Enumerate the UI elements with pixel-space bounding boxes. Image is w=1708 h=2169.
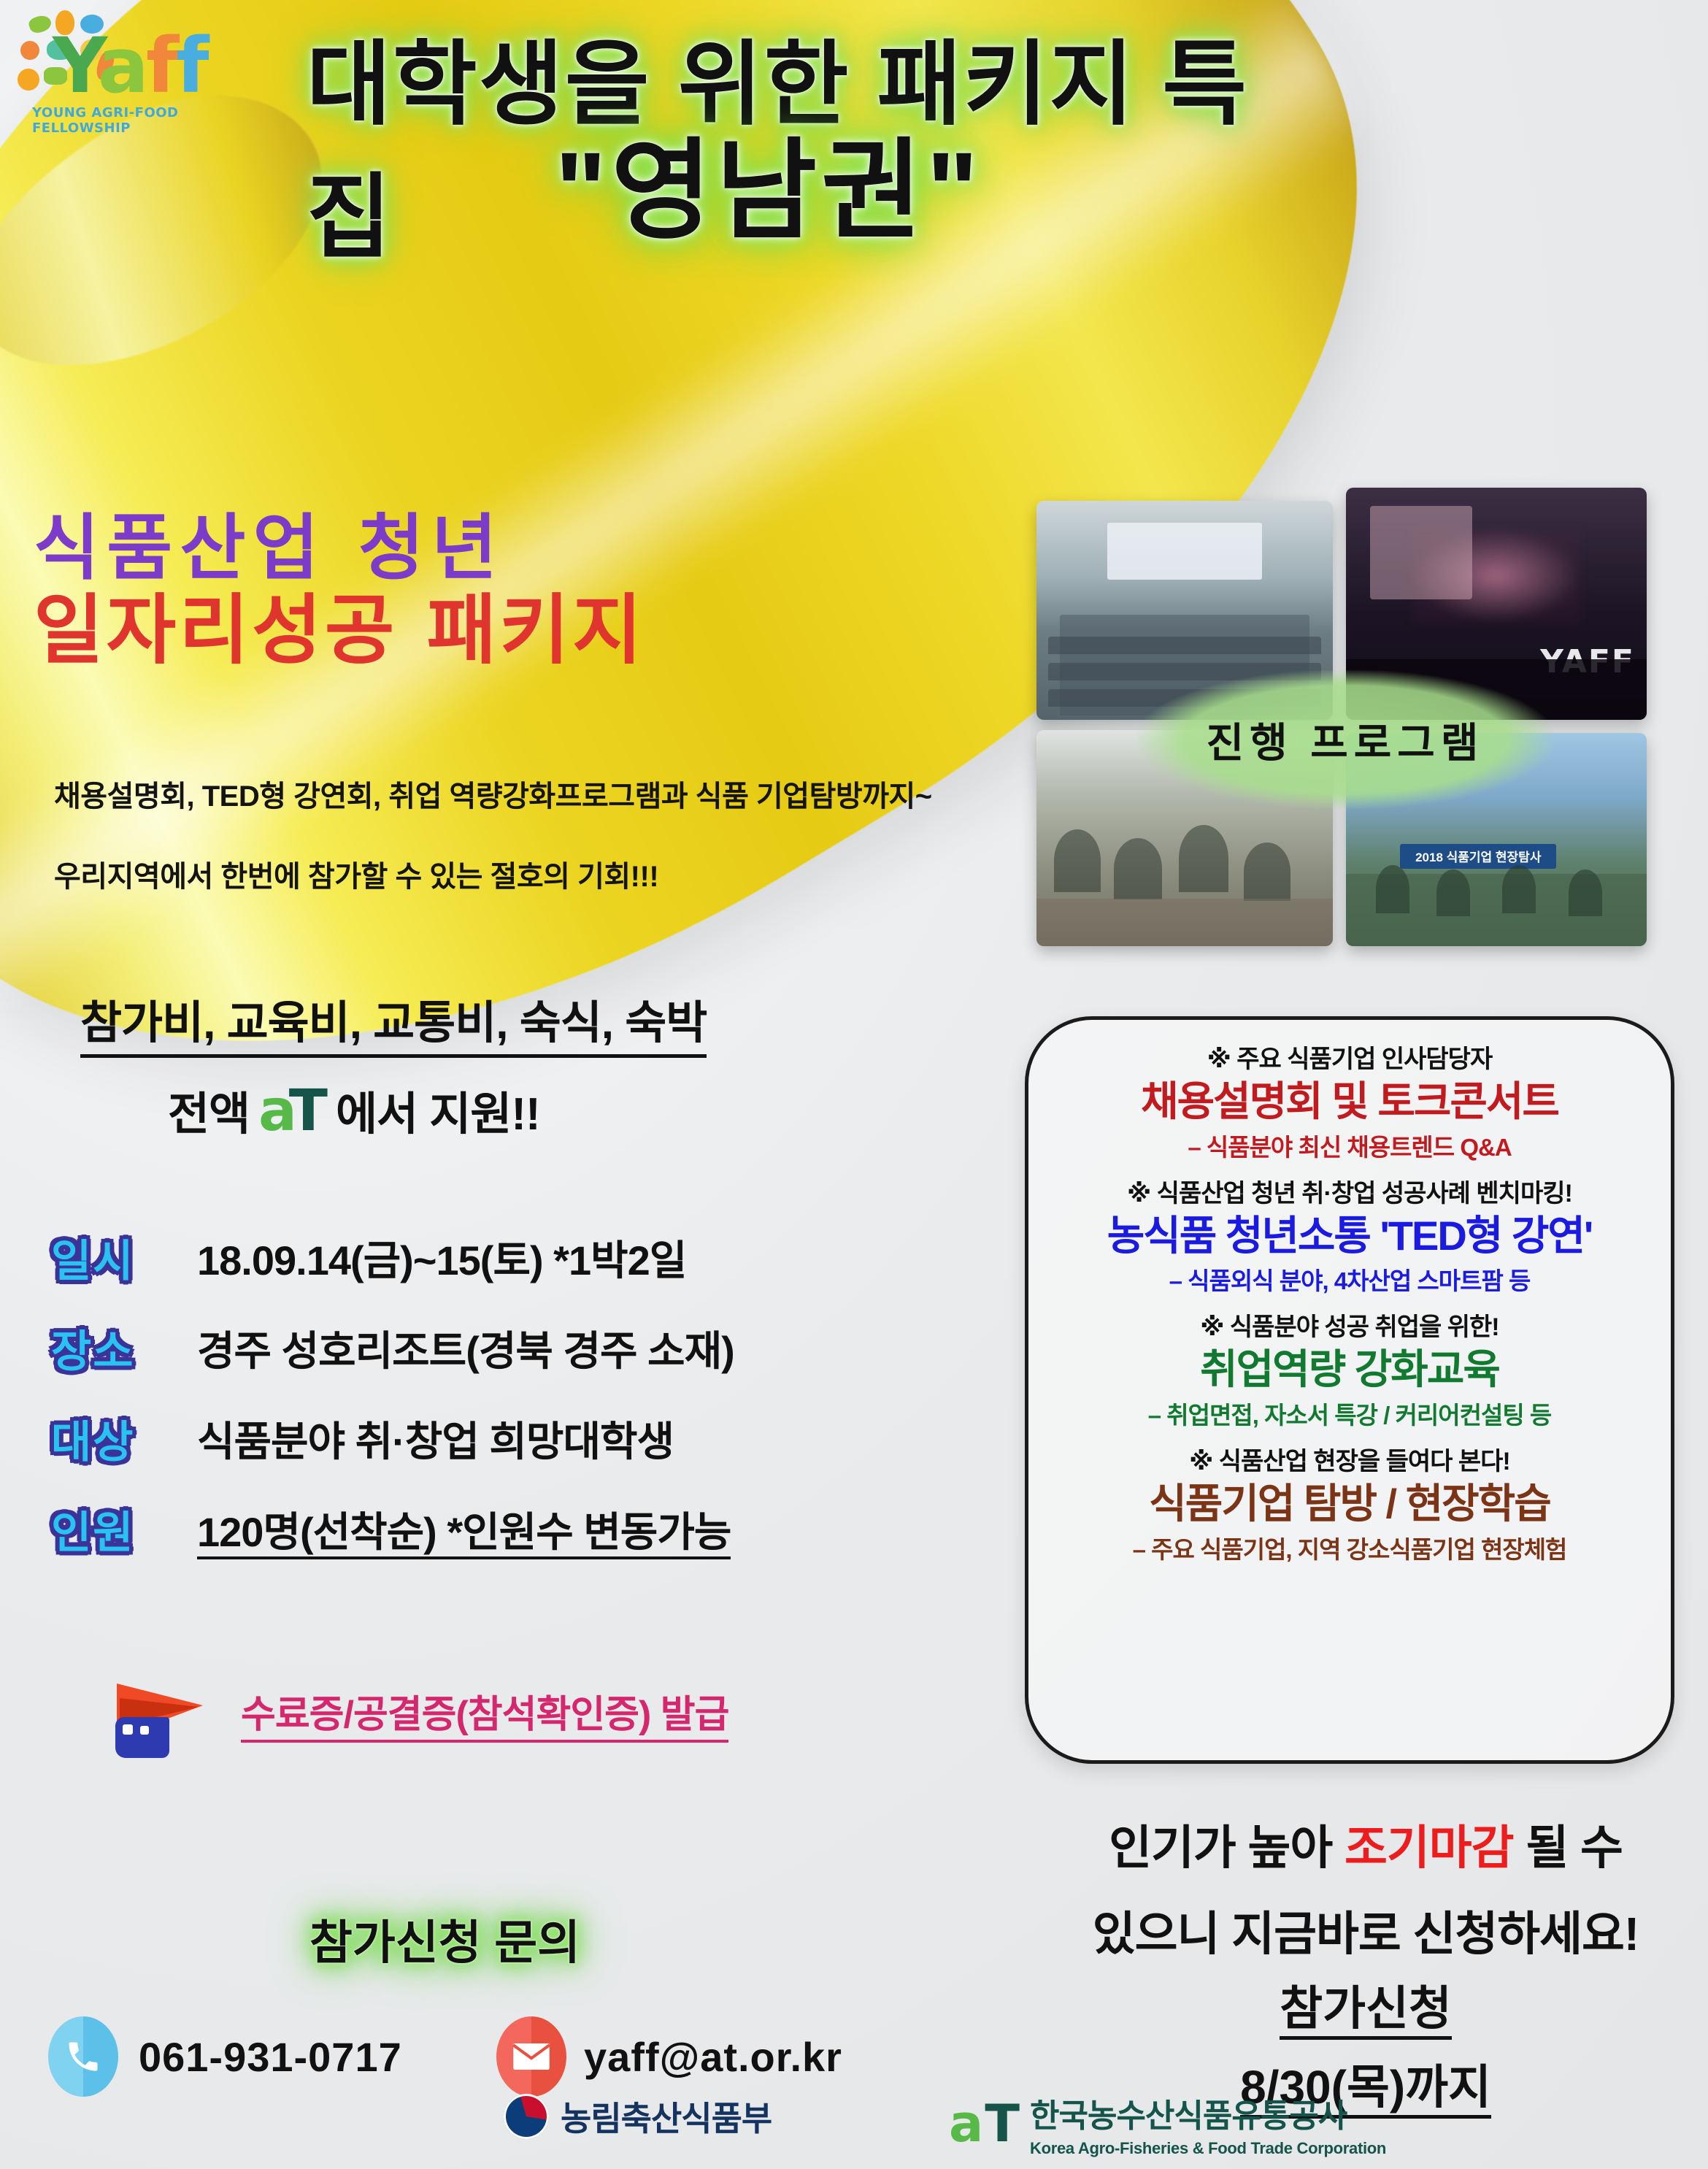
brand-heading: 식품산업 청년 일자리성공 패키지 bbox=[34, 511, 873, 670]
footer-at-letter-t: T bbox=[985, 2103, 1020, 2144]
info-label-place: 장소 bbox=[51, 1316, 197, 1380]
phone-number: 061-931-0717 bbox=[139, 2033, 402, 2081]
vegetable-icon-4 bbox=[20, 41, 39, 60]
program-sub-1: – 식품분야 최신 채용트렌드 Q&A bbox=[1047, 1128, 1652, 1163]
email-address: yaff@at.or.kr bbox=[584, 2033, 842, 2081]
footer-at-korean: 한국농수산식품유통공사 bbox=[1030, 2089, 1386, 2136]
logo-tagline: YOUNG AGRI-FOOD FELLOWSHIP bbox=[32, 105, 229, 136]
intro-text: 채용설명회, TED형 강연회, 취업 역량강화프로그램과 식품 기업탐방까지~… bbox=[54, 772, 966, 933]
mail-icon bbox=[496, 2016, 566, 2097]
contact-email[interactable]: yaff@at.or.kr bbox=[496, 2016, 842, 2097]
info-value-date: 18.09.14(금)~15(토) *1박2일 bbox=[197, 1228, 686, 1287]
contact-title: 참가신청 문의 bbox=[309, 1905, 580, 1973]
program-item-4: ※ 식품산업 현장을 들여다 본다! 식품기업 탐방 / 현장학습 – 주요 식… bbox=[1047, 1441, 1652, 1565]
urgency-line-2: 있으니 지금바로 신청하세요! bbox=[1026, 1897, 1705, 1964]
page-title-line2: "영남권" bbox=[555, 102, 982, 261]
vegetable-icon-7 bbox=[18, 69, 39, 91]
contact-phone[interactable]: 061-931-0717 bbox=[48, 2016, 402, 2097]
certificate-note: 수료증/공결증(참석확인증) 발급 bbox=[241, 1684, 728, 1743]
footer-at-english: Korea Agro-Fisheries & Food Trade Corpor… bbox=[1030, 2139, 1386, 2158]
program-item-3: ※ 식품분야 성공 취업을 위한! 취업역량 강화교육 – 취업면접, 자소서 … bbox=[1047, 1307, 1652, 1431]
urgency-highlight: 조기마감 bbox=[1345, 1821, 1514, 1874]
program-cloud-text: 진행 프로그램 bbox=[1207, 710, 1485, 769]
program-note-1: ※ 주요 식품기업 인사담당자 bbox=[1047, 1039, 1652, 1075]
vegetable-icon-1 bbox=[27, 13, 53, 36]
support-prefix: 전액 bbox=[168, 1077, 250, 1143]
program-main-4: 식품기업 탐방 / 현장학습 bbox=[1047, 1481, 1652, 1527]
footer-at-logo: aT 한국농수산식품유통공사 Korea Agro-Fisheries & Fo… bbox=[949, 2089, 1386, 2158]
poster-root: Yaff YOUNG AGRI-FOOD FELLOWSHIP 대학생을 위한 … bbox=[0, 0, 1708, 2169]
urgency-block: 인기가 높아 조기마감 될 수 있으니 지금바로 신청하세요! 참가신청 8/3… bbox=[1026, 1811, 1705, 2117]
logo-letter-f1: f bbox=[146, 21, 176, 110]
program-sub-3: – 취업면접, 자소서 특강 / 커리어컨설팅 등 bbox=[1047, 1396, 1652, 1431]
urgency-1a: 인기가 높아 bbox=[1109, 1821, 1345, 1874]
yaff-logo: Yaff YOUNG AGRI-FOOD FELLOWSHIP bbox=[10, 7, 229, 139]
intro-line-2: 우리지역에서 한번에 참가할 수 있는 절호의 기회!!! bbox=[54, 853, 966, 895]
footer-mafra-logo: 농림축산식품부 bbox=[504, 2092, 772, 2141]
program-cloud-label: 진행 프로그램 bbox=[1137, 670, 1553, 809]
megaphone-hand bbox=[115, 1717, 169, 1758]
phone-icon bbox=[48, 2016, 118, 2097]
table-row: 장소 경주 성호리조트(경북 경주 소재) bbox=[51, 1302, 971, 1393]
urgency-line-3: 참가신청 bbox=[1026, 1971, 1705, 2038]
footer-at-letter-a: a bbox=[949, 2103, 983, 2144]
table-row: 대상 식품분야 취·창업 희망대학생 bbox=[51, 1393, 971, 1483]
program-item-2: ※ 식품산업 청년 취·창업 성공사례 벤치마킹! 농식품 청년소통 'TED형… bbox=[1047, 1173, 1652, 1297]
support-line-2: 전액 aT 에서 지원!! bbox=[80, 1077, 956, 1143]
program-main-2: 농식품 청년소통 'TED형 강연' bbox=[1047, 1213, 1652, 1259]
footer-mafra-text: 농림축산식품부 bbox=[561, 2092, 772, 2141]
info-value-place: 경주 성호리조트(경북 경주 소재) bbox=[197, 1318, 734, 1378]
info-value-capacity: 120명(선착순) *인원수 변동가능 bbox=[197, 1500, 731, 1559]
photo-banner-text: 2018 식품기업 현장탐사 bbox=[1400, 844, 1556, 869]
info-label-date: 일시 bbox=[51, 1226, 197, 1289]
program-panel: ※ 주요 식품기업 인사담당자 채용설명회 및 토크콘서트 – 식품분야 최신 … bbox=[1025, 1016, 1674, 1764]
program-sub-2: – 식품외식 분야, 4차산업 스마트팜 등 bbox=[1047, 1262, 1652, 1297]
urgency-line-1: 인기가 높아 조기마감 될 수 bbox=[1026, 1811, 1705, 1878]
program-main-3: 취업역량 강화교육 bbox=[1047, 1347, 1652, 1393]
at-letter-t: T bbox=[289, 1087, 327, 1136]
logo-letter-a: a bbox=[98, 21, 146, 110]
at-inline-logo: aT bbox=[258, 1083, 327, 1136]
program-item-1: ※ 주요 식품기업 인사담당자 채용설명회 및 토크콘서트 – 식품분야 최신 … bbox=[1047, 1039, 1652, 1163]
logo-letter-y: Y bbox=[53, 21, 98, 110]
program-note-3: ※ 식품분야 성공 취업을 위한! bbox=[1047, 1307, 1652, 1343]
info-value-target: 식품분야 취·창업 희망대학생 bbox=[197, 1409, 674, 1468]
logo-wordmark: Yaff bbox=[53, 28, 206, 104]
support-line-1: 참가비, 교육비, 교통비, 숙식, 숙박 bbox=[80, 986, 707, 1058]
brand-line-2: 일자리성공 패키지 bbox=[34, 591, 873, 670]
info-table: 일시 18.09.14(금)~15(토) *1박2일 장소 경주 성호리조트(경… bbox=[51, 1212, 971, 1574]
info-label-capacity: 인원 bbox=[51, 1497, 197, 1561]
table-row: 인원 120명(선착순) *인원수 변동가능 bbox=[51, 1483, 971, 1574]
taegeuk-icon bbox=[504, 2094, 549, 2139]
program-main-1: 채용설명회 및 토크콘서트 bbox=[1047, 1079, 1652, 1125]
urgency-1b: 될 수 bbox=[1514, 1821, 1623, 1874]
logo-letter-f2: f bbox=[176, 21, 206, 110]
support-block: 참가비, 교육비, 교통비, 숙식, 숙박 전액 aT 에서 지원!! bbox=[80, 986, 956, 1143]
program-note-4: ※ 식품산업 현장을 들여다 본다! bbox=[1047, 1441, 1652, 1477]
brand-line-1: 식품산업 청년 bbox=[34, 511, 873, 586]
program-sub-4: – 주요 식품기업, 지역 강소식품기업 현장체험 bbox=[1047, 1530, 1652, 1565]
program-note-2: ※ 식품산업 청년 취·창업 성공사례 벤치마킹! bbox=[1047, 1173, 1652, 1209]
intro-line-1: 채용설명회, TED형 강연회, 취업 역량강화프로그램과 식품 기업탐방까지~ bbox=[54, 772, 966, 815]
support-suffix: 에서 지원!! bbox=[336, 1077, 540, 1143]
info-label-target: 대상 bbox=[51, 1407, 197, 1470]
table-row: 일시 18.09.14(금)~15(토) *1박2일 bbox=[51, 1212, 971, 1302]
